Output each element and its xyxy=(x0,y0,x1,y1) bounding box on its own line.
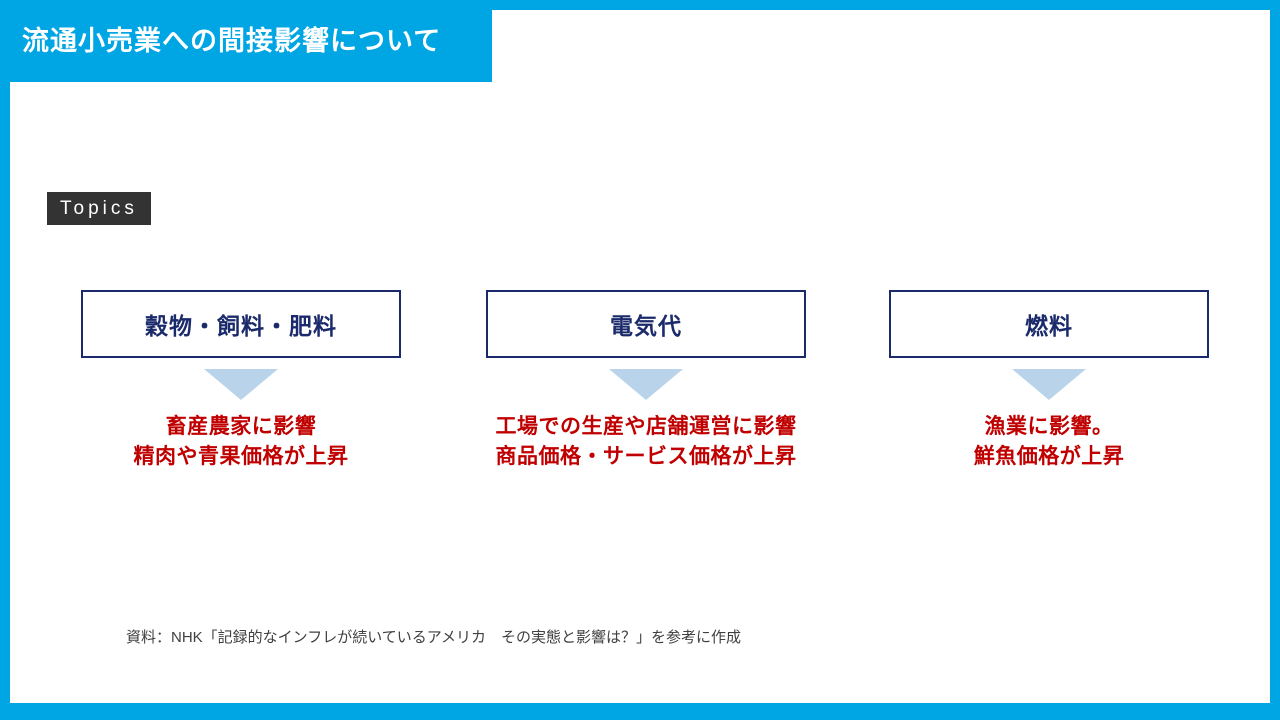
impact-line: 商品価格・サービス価格が上昇 xyxy=(486,442,806,472)
impact-column-fuel: 燃料 漁業に影響。 鮮魚価格が上昇 xyxy=(889,290,1209,472)
source-note: 資料：NHK「記録的なインフレが続いているアメリカ その実態と影響は？」を参考に… xyxy=(126,626,741,647)
impact-line: 畜産農家に影響 xyxy=(81,412,401,442)
arrow-container xyxy=(889,358,1209,410)
frame-border-left xyxy=(0,0,10,720)
arrow-down-icon xyxy=(204,369,278,400)
category-label: 穀物・飼料・肥料 xyxy=(145,307,337,341)
impact-text: 工場での生産や店舗運営に影響 商品価格・サービス価格が上昇 xyxy=(486,412,806,472)
category-label: 電気代 xyxy=(610,307,682,341)
impact-text: 漁業に影響。 鮮魚価格が上昇 xyxy=(889,412,1209,472)
frame-border-right xyxy=(1270,0,1280,720)
frame-border-bottom xyxy=(0,703,1280,720)
impact-column-electricity: 電気代 工場での生産や店舗運営に影響 商品価格・サービス価格が上昇 xyxy=(486,290,806,472)
impact-column-grain: 穀物・飼料・肥料 畜産農家に影響 精肉や青果価格が上昇 xyxy=(81,290,401,472)
category-box: 燃料 xyxy=(889,290,1209,358)
category-box: 穀物・飼料・肥料 xyxy=(81,290,401,358)
impact-line: 工場での生産や店舗運営に影響 xyxy=(486,412,806,442)
arrow-container xyxy=(486,358,806,410)
arrow-down-icon xyxy=(1012,369,1086,400)
topics-badge: Topics xyxy=(47,192,151,225)
impact-line: 精肉や青果価格が上昇 xyxy=(81,442,401,472)
category-label: 燃料 xyxy=(1025,307,1073,341)
impact-text: 畜産農家に影響 精肉や青果価格が上昇 xyxy=(81,412,401,472)
slide-canvas: 流通小売業への間接影響について Topics 穀物・飼料・肥料 畜産農家に影響 … xyxy=(0,0,1280,720)
category-box: 電気代 xyxy=(486,290,806,358)
arrow-down-icon xyxy=(609,369,683,400)
arrow-container xyxy=(81,358,401,410)
impact-line: 鮮魚価格が上昇 xyxy=(889,442,1209,472)
slide-title-banner: 流通小売業への間接影響について xyxy=(0,0,492,82)
impact-line: 漁業に影響。 xyxy=(889,412,1209,442)
page-title: 流通小売業への間接影響について xyxy=(22,19,441,58)
